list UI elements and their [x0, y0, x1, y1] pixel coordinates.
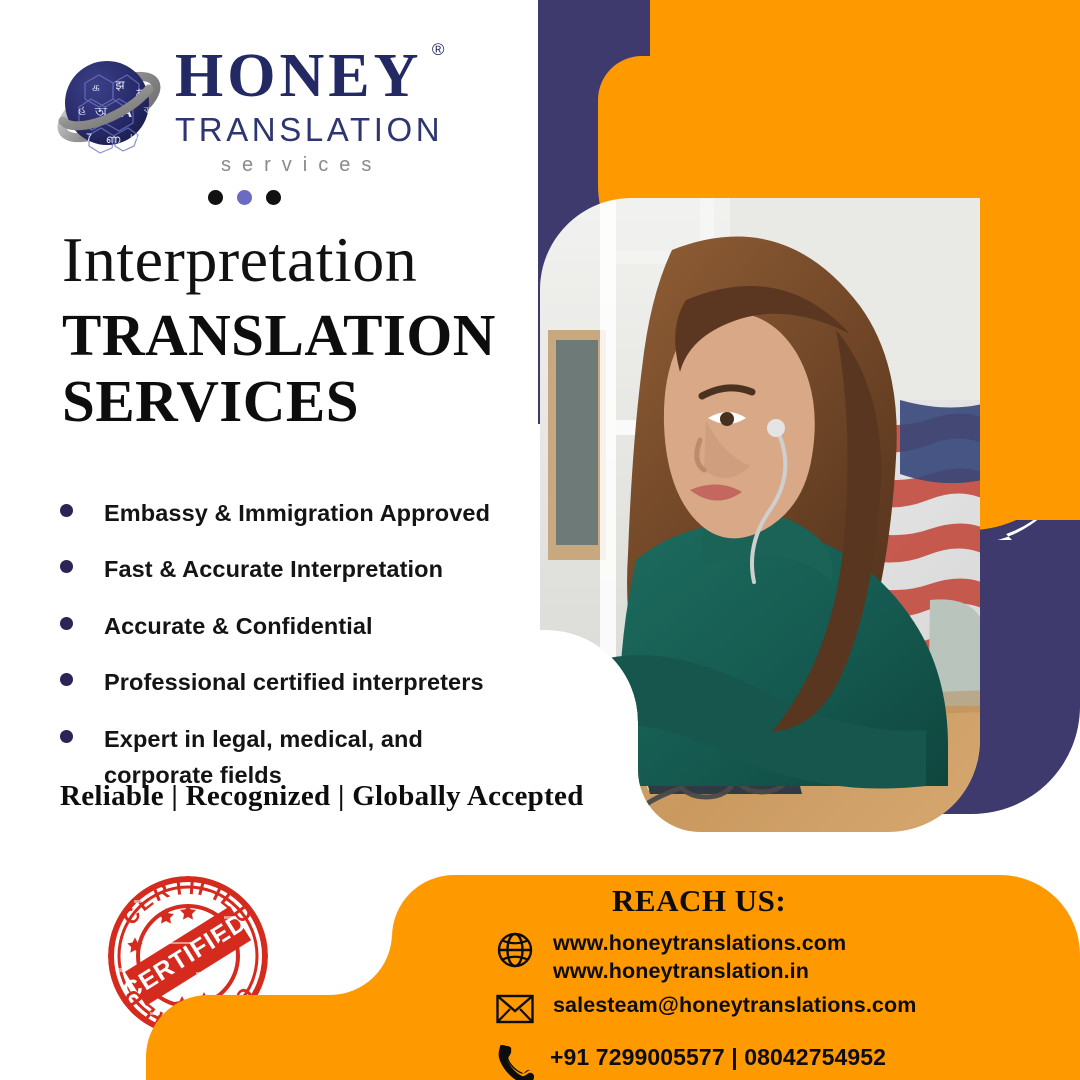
logo-honey-text: HONEY — [175, 42, 422, 110]
website-list[interactable]: www.honeytranslations.com www.honeytrans… — [553, 930, 846, 985]
contact-row-email[interactable]: salesteam@honeytranslations.com — [495, 992, 916, 1026]
orange-decorative-shape — [598, 0, 1080, 530]
svg-text:ப: ப — [130, 130, 138, 142]
contact-panel: REACH US: www.honeytranslations.com www.… — [0, 845, 1080, 1080]
globe-languages-icon: க झ あ હ অ A ক 7 ണ ப — [55, 51, 167, 163]
feature-text: Professional certified interpreters — [104, 664, 484, 700]
globe-icon — [495, 930, 535, 970]
bullet-dot-icon — [60, 560, 73, 573]
bullet-dot-icon — [60, 730, 73, 743]
poster-canvas: க झ あ હ অ A ক 7 ണ ப HONEY ® TR — [0, 0, 1080, 1080]
dot-1 — [208, 190, 223, 205]
decorative-dots — [208, 190, 281, 205]
svg-text:ক: ক — [143, 105, 151, 115]
logo-wordmark-translation: TRANSLATION — [175, 111, 475, 149]
purple-decorative-shape — [538, 0, 1080, 814]
dot-2 — [237, 190, 252, 205]
bullet-dot-icon — [60, 504, 73, 517]
svg-text:હ: હ — [78, 104, 86, 116]
svg-text:7: 7 — [86, 132, 92, 144]
headline-line-1: TRANSLATION — [62, 302, 532, 368]
bullet-dot-icon — [60, 617, 73, 630]
list-item: Fast & Accurate Interpretation — [55, 551, 525, 587]
phone-icon — [492, 1043, 534, 1080]
reach-us-title: REACH US: — [612, 883, 786, 919]
feature-list: Embassy & Immigration Approved Fast & Ac… — [55, 495, 525, 794]
envelope-icon — [495, 992, 535, 1026]
contact-row-phone[interactable]: +91 7299005577 | 08042754952 — [492, 1043, 886, 1080]
headline-line-2: SERVICES — [62, 368, 532, 434]
email-address[interactable]: salesteam@honeytranslations.com — [553, 992, 916, 1020]
headline-main: TRANSLATION SERVICES — [62, 302, 532, 434]
phone-numbers[interactable]: +91 7299005577 | 08042754952 — [550, 1043, 886, 1072]
brand-logo[interactable]: க झ あ હ অ A ক 7 ണ ப HONEY ® TR — [55, 45, 475, 180]
list-item: Accurate & Confidential — [55, 608, 525, 644]
svg-text:झ: झ — [115, 78, 125, 92]
list-item: Embassy & Immigration Approved — [55, 495, 525, 531]
feature-text: Accurate & Confidential — [104, 608, 373, 644]
registered-trademark-icon: ® — [432, 41, 445, 58]
contact-row-website[interactable]: www.honeytranslations.com www.honeytrans… — [495, 930, 846, 985]
list-item: Professional certified interpreters — [55, 664, 525, 700]
logo-wordmark-honey: HONEY ® — [175, 45, 422, 107]
dot-3 — [266, 190, 281, 205]
svg-text:க: க — [92, 80, 100, 94]
interpreter-photo — [530, 190, 990, 846]
website-1[interactable]: www.honeytranslations.com — [553, 930, 846, 958]
tagline: Reliable | Recognized | Globally Accepte… — [60, 780, 584, 813]
feature-text: Embassy & Immigration Approved — [104, 495, 490, 531]
feature-text: Fast & Accurate Interpretation — [104, 551, 443, 587]
bullet-dot-icon — [60, 673, 73, 686]
website-2[interactable]: www.honeytranslation.in — [553, 958, 846, 986]
headline-script-line: Interpretation — [62, 228, 532, 292]
logo-wordmark-services: services — [221, 153, 475, 177]
svg-text:ണ: ണ — [106, 134, 121, 146]
headline-block: Interpretation TRANSLATION SERVICES — [62, 228, 532, 434]
